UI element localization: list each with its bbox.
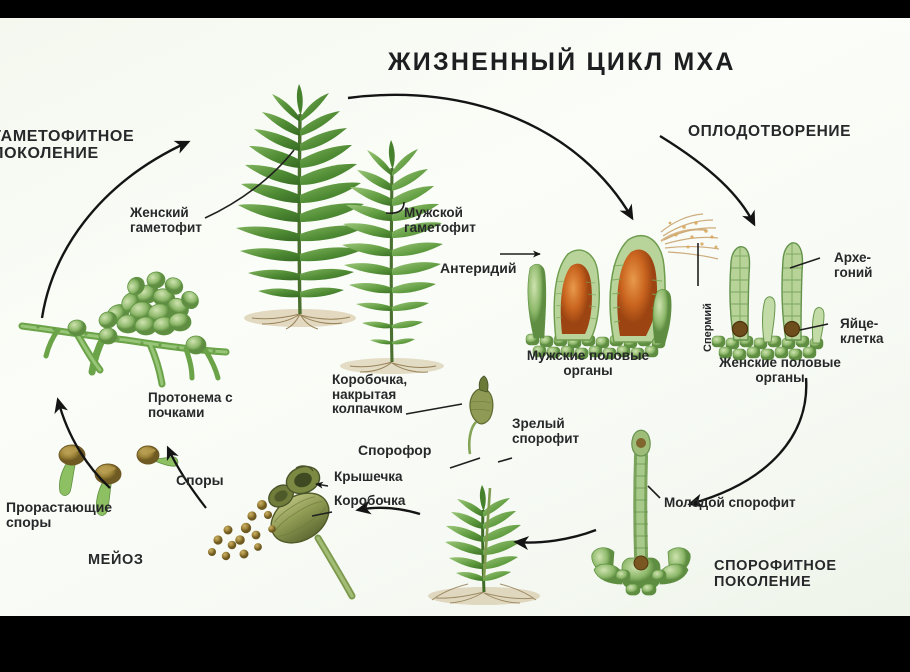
capsule-label: Коробочка [334,494,405,509]
leader-mature-sporophyte [498,458,512,462]
female-gametophyte-label: Женский гаметофит [130,206,202,235]
capsule-with-calyptra-label: Коробочка, накрытая колпачком [332,373,407,417]
spores-label: Споры [176,473,224,488]
fertilization-label: ОПЛОДОТВОРЕНИЕ [688,124,851,141]
operculum-label: Крышечка [334,470,403,485]
figure-stage: ЖИЗНЕННЫЙ ЦИКЛ МХА ГАМЕТОФИТНОЕ ПОКОЛЕНИ… [0,0,910,672]
leader-young-sporophyte [648,486,660,498]
sperm-label: Спермий [702,303,714,352]
sporophyte-generation-label: СПОРОФИТНОЕ ПОКОЛЕНИЕ [714,559,837,590]
leader-capsule [312,512,332,516]
diagram-canvas: ЖИЗНЕННЫЙ ЦИКЛ МХА ГАМЕТОФИТНОЕ ПОКОЛЕНИ… [0,18,910,616]
male-organs-label: Мужские половые органы [508,349,668,378]
egg-cell-label: Яйце- клетка [840,317,884,346]
leader-capsule-calyptra [406,404,462,414]
male-gametophyte-label: Мужской гаметофит [404,206,476,235]
antheridium-label: Антеридий [440,261,516,276]
leader-egg-cell [800,324,828,330]
letterbox-top [0,0,910,18]
meiosis-label: МЕЙОЗ [88,553,144,569]
letterbox-bottom [0,616,910,672]
germinating-spores-label: Прорастающие споры [6,500,112,530]
leader-female-gametophyte [205,150,294,218]
gametophyte-generation-label: ГАМЕТОФИТНОЕ ПОКОЛЕНИЕ [0,128,134,163]
sporophore-label: Спорофор [358,443,431,458]
protonema-label: Протонема с почками [148,391,233,420]
female-organs-label: Женские половые органы [700,356,860,385]
mature-sporophyte-label: Зрелый спорофит [512,417,579,446]
leader-line-layer [0,18,910,616]
leader-male-gametophyte [386,202,404,213]
leader-archegonium [790,258,820,268]
young-sporophyte-label: Молодой спорофит [664,496,796,511]
leader-sporophore [450,458,480,468]
archegonium-label: Архе- гоний [834,251,872,280]
leader-operculum [316,484,328,486]
page-title: ЖИЗНЕННЫЙ ЦИКЛ МХА [388,48,736,77]
